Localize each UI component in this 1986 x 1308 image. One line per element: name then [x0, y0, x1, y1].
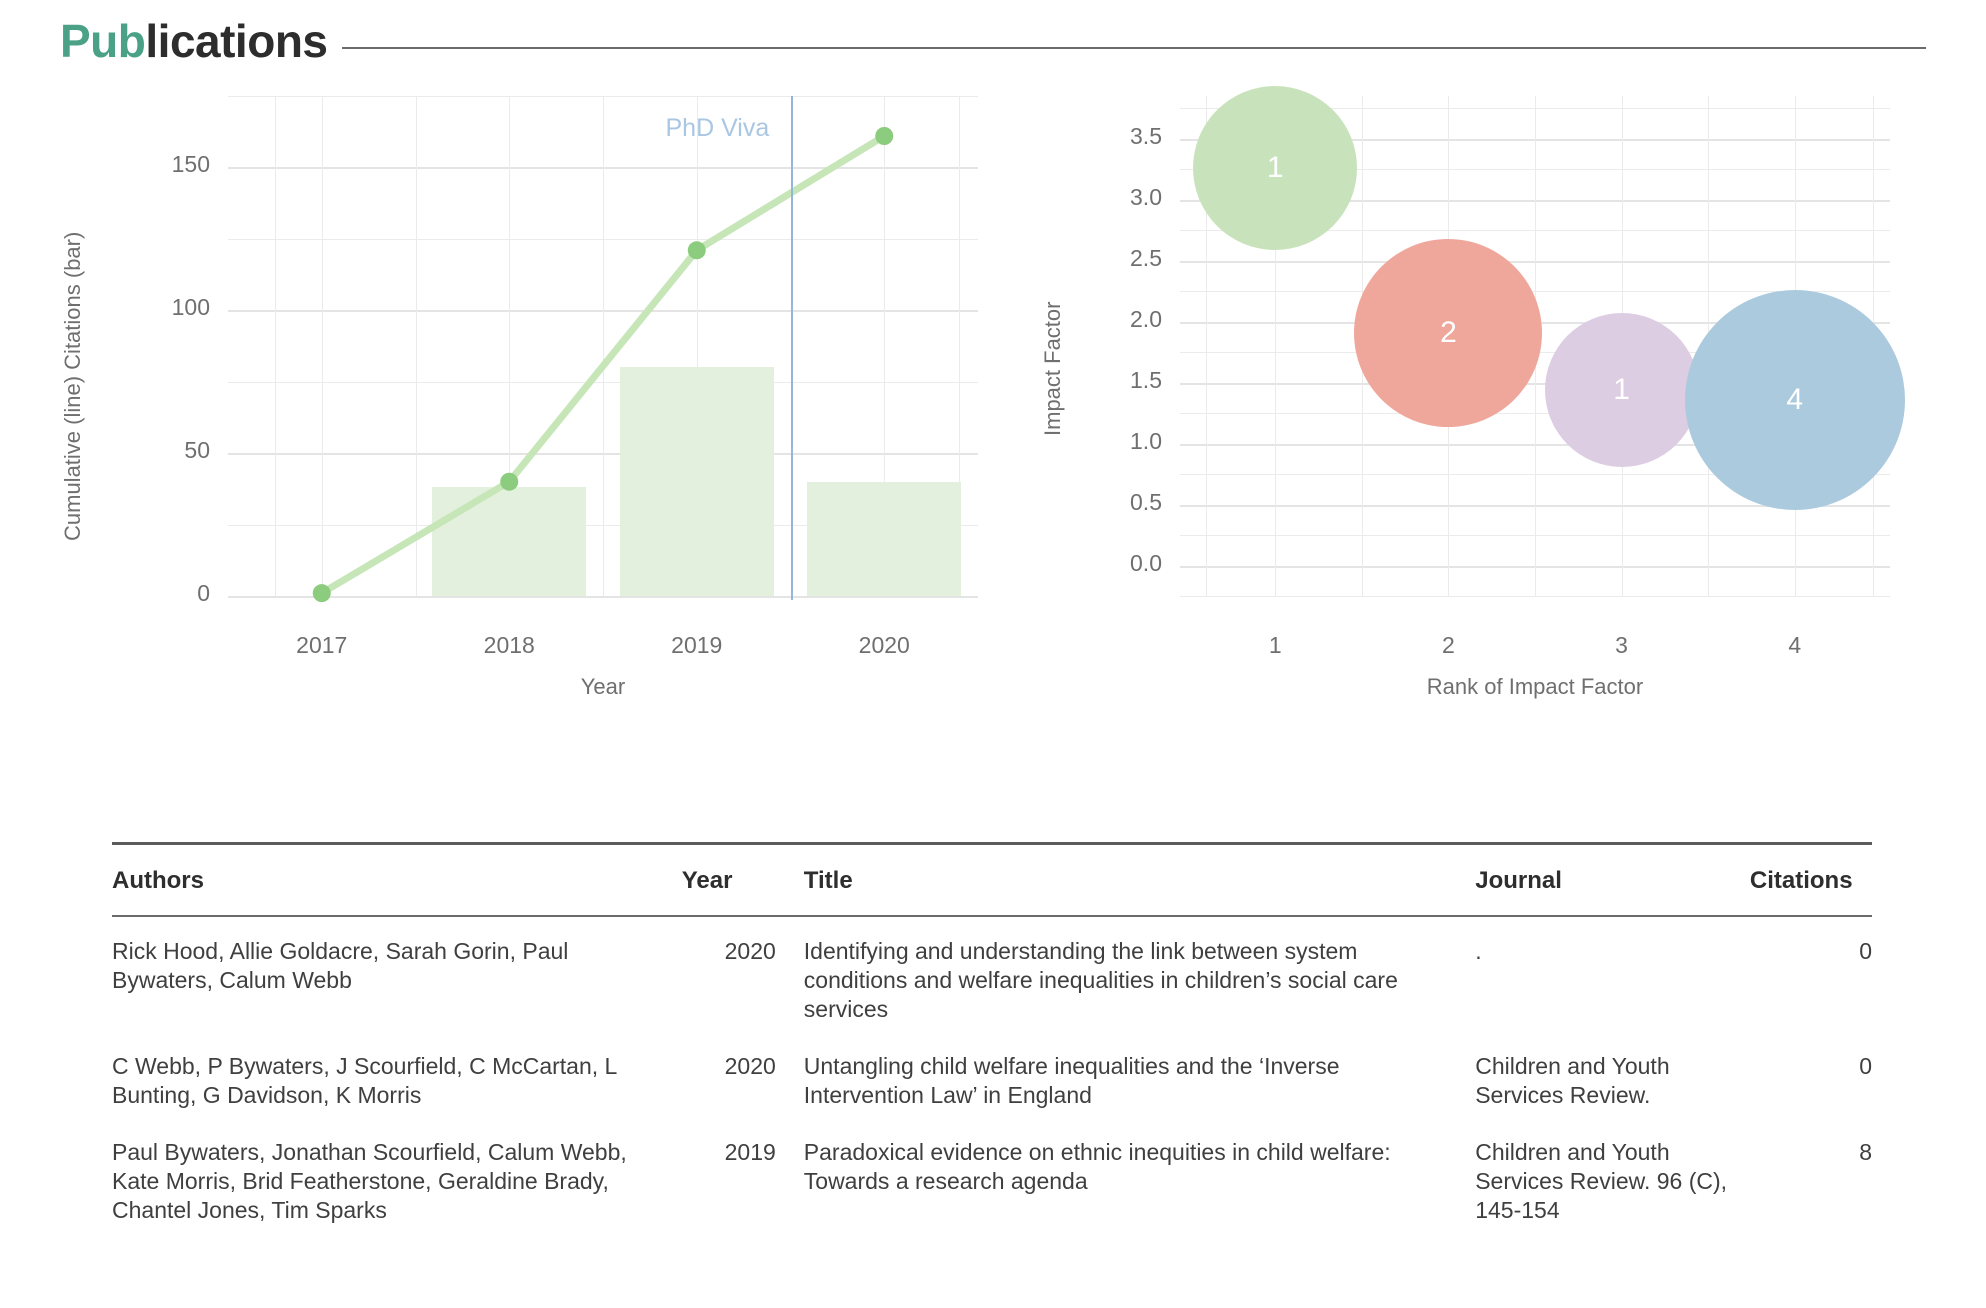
- cell-year: 2020: [682, 1032, 804, 1118]
- cell-citations: 8: [1750, 1118, 1872, 1233]
- cell-citations: 0: [1750, 1032, 1872, 1118]
- cell-authors: Rick Hood, Allie Goldacre, Sarah Gorin, …: [112, 916, 682, 1032]
- x-tick-label: 2018: [449, 632, 569, 659]
- y-tick-label: 3.5: [1130, 123, 1162, 150]
- table-row: C Webb, P Bywaters, J Scourfield, C McCa…: [112, 1032, 1872, 1118]
- x-tick-label: 1: [1215, 632, 1335, 659]
- plot-area: 1214: [1180, 96, 1890, 596]
- cell-journal: Children and Youth Services Review. 96 (…: [1475, 1118, 1750, 1233]
- impact-factor-rank-chart: 12140.00.51.01.52.02.53.03.51234Impact F…: [990, 78, 1986, 768]
- bubble-rank-1: 1: [1193, 86, 1357, 250]
- table-header-row: Authors Year Title Journal Citations: [112, 844, 1872, 917]
- cell-year: 2019: [682, 1118, 804, 1233]
- table-row: Rick Hood, Allie Goldacre, Sarah Gorin, …: [112, 916, 1872, 1032]
- x-tick-label: 4: [1735, 632, 1855, 659]
- data-point-2018: [500, 473, 518, 491]
- y-tick-label: 0.5: [1130, 489, 1162, 516]
- y-tick-label: 150: [172, 151, 210, 178]
- citations-over-time-chart: PhD Viva0501001502017201820192020Cumulat…: [0, 78, 990, 768]
- data-point-2020: [875, 127, 893, 145]
- column-header-year[interactable]: Year: [682, 844, 804, 917]
- page-title-accent: Pub: [60, 15, 145, 67]
- y-tick-label: 2.5: [1130, 245, 1162, 272]
- cell-journal: .: [1475, 916, 1750, 1032]
- x-tick-label: 2017: [262, 632, 382, 659]
- gridline-horizontal: [228, 596, 978, 598]
- phd-viva-label: PhD Viva: [666, 114, 770, 143]
- y-tick-label: 50: [184, 437, 210, 464]
- cell-authors: Paul Bywaters, Jonathan Scourfield, Calu…: [112, 1118, 682, 1233]
- y-axis-title: Cumulative (line) Citations (bar): [60, 232, 86, 541]
- x-tick-label: 2019: [637, 632, 757, 659]
- x-tick-label: 2: [1388, 632, 1508, 659]
- plot-area: [228, 96, 978, 596]
- cell-title: Identifying and understanding the link b…: [804, 916, 1475, 1032]
- x-axis-title: Year: [228, 674, 978, 700]
- cell-authors: C Webb, P Bywaters, J Scourfield, C McCa…: [112, 1032, 682, 1118]
- column-header-citations[interactable]: Citations: [1750, 844, 1872, 917]
- column-header-title[interactable]: Title: [804, 844, 1475, 917]
- bubble-rank-3: 1: [1545, 313, 1699, 467]
- cell-title: Paradoxical evidence on ethnic inequitie…: [804, 1118, 1475, 1233]
- cell-journal: Children and Youth Services Review.: [1475, 1032, 1750, 1118]
- table-body: Rick Hood, Allie Goldacre, Sarah Gorin, …: [112, 916, 1872, 1233]
- page-header: Publications: [0, 0, 1986, 78]
- cell-year: 2020: [682, 916, 804, 1032]
- publications-table-container: Authors Year Title Journal Citations Ric…: [112, 842, 1872, 1233]
- publications-table: Authors Year Title Journal Citations Ric…: [112, 842, 1872, 1233]
- y-tick-label: 0: [197, 580, 210, 607]
- cell-citations: 0: [1750, 916, 1872, 1032]
- bubble-rank-4: 4: [1685, 290, 1905, 510]
- charts-row: PhD Viva0501001502017201820192020Cumulat…: [0, 78, 1986, 768]
- y-axis-title: Impact Factor: [1040, 302, 1066, 436]
- x-tick-label: 3: [1562, 632, 1682, 659]
- page-title-rest: lications: [145, 15, 327, 67]
- y-tick-label: 3.0: [1130, 184, 1162, 211]
- data-point-2019: [688, 241, 706, 259]
- title-rule-divider: [342, 47, 1927, 49]
- x-axis-title: Rank of Impact Factor: [1180, 674, 1890, 700]
- cell-title: Untangling child welfare inequalities an…: [804, 1032, 1475, 1118]
- y-tick-label: 100: [172, 294, 210, 321]
- phd-viva-marker-line: [791, 96, 793, 600]
- x-tick-label: 2020: [824, 632, 944, 659]
- y-tick-label: 1.5: [1130, 367, 1162, 394]
- bubble-rank-2: 2: [1354, 239, 1542, 427]
- data-point-2017: [313, 584, 331, 602]
- table-row: Paul Bywaters, Jonathan Scourfield, Calu…: [112, 1118, 1872, 1233]
- y-tick-label: 2.0: [1130, 306, 1162, 333]
- y-tick-label: 0.0: [1130, 550, 1162, 577]
- column-header-journal[interactable]: Journal: [1475, 844, 1750, 917]
- y-tick-label: 1.0: [1130, 428, 1162, 455]
- table-header: Authors Year Title Journal Citations: [112, 844, 1872, 917]
- cumulative-citations-line: [228, 96, 978, 596]
- gridline-horizontal: [1180, 596, 1890, 597]
- column-header-authors[interactable]: Authors: [112, 844, 682, 917]
- page-title: Publications: [60, 14, 328, 68]
